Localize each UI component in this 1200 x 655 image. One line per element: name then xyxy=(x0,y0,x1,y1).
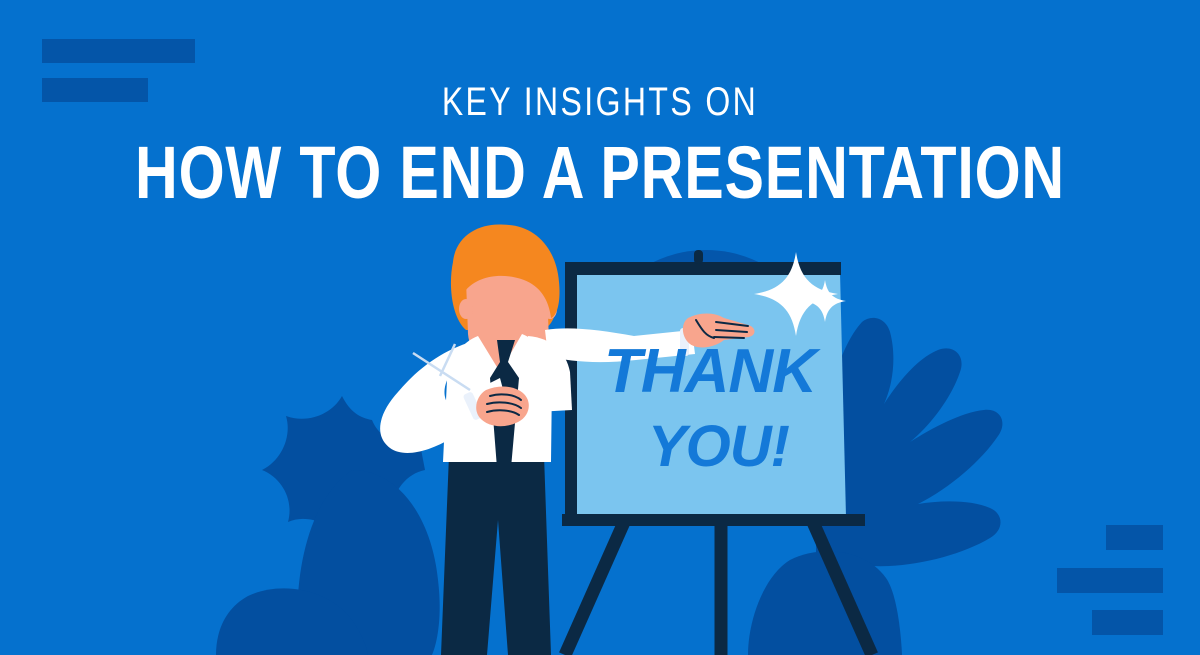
board-text-thank: THANK xyxy=(604,341,816,403)
character-trousers xyxy=(441,455,551,655)
character-hand-left xyxy=(476,387,529,427)
character-layer xyxy=(0,0,1200,655)
character-ear-left xyxy=(459,299,473,319)
presentation-slide: THANK YOU! xyxy=(0,0,1200,655)
board-text-you: YOU! xyxy=(648,418,789,476)
